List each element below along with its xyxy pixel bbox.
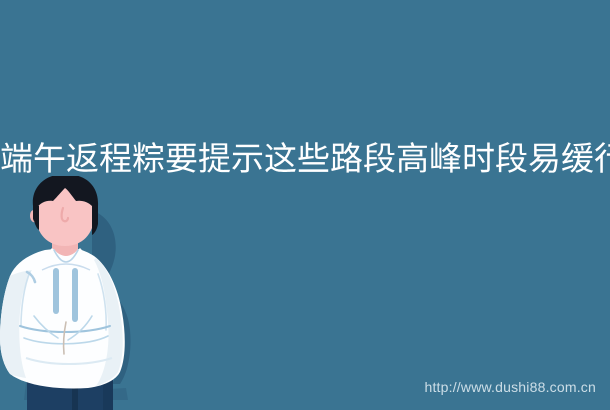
- image-canvas: 端午返程粽要提示这些路段高峰时段易缓行 http://www.dushi88.c…: [0, 0, 610, 410]
- site-watermark: http://www.dushi88.com.cn: [424, 379, 596, 395]
- page-title: 端午返程粽要提示这些路段高峰时段易缓行: [0, 138, 610, 180]
- person-illustration: [0, 176, 150, 410]
- hoodie: [0, 248, 125, 388]
